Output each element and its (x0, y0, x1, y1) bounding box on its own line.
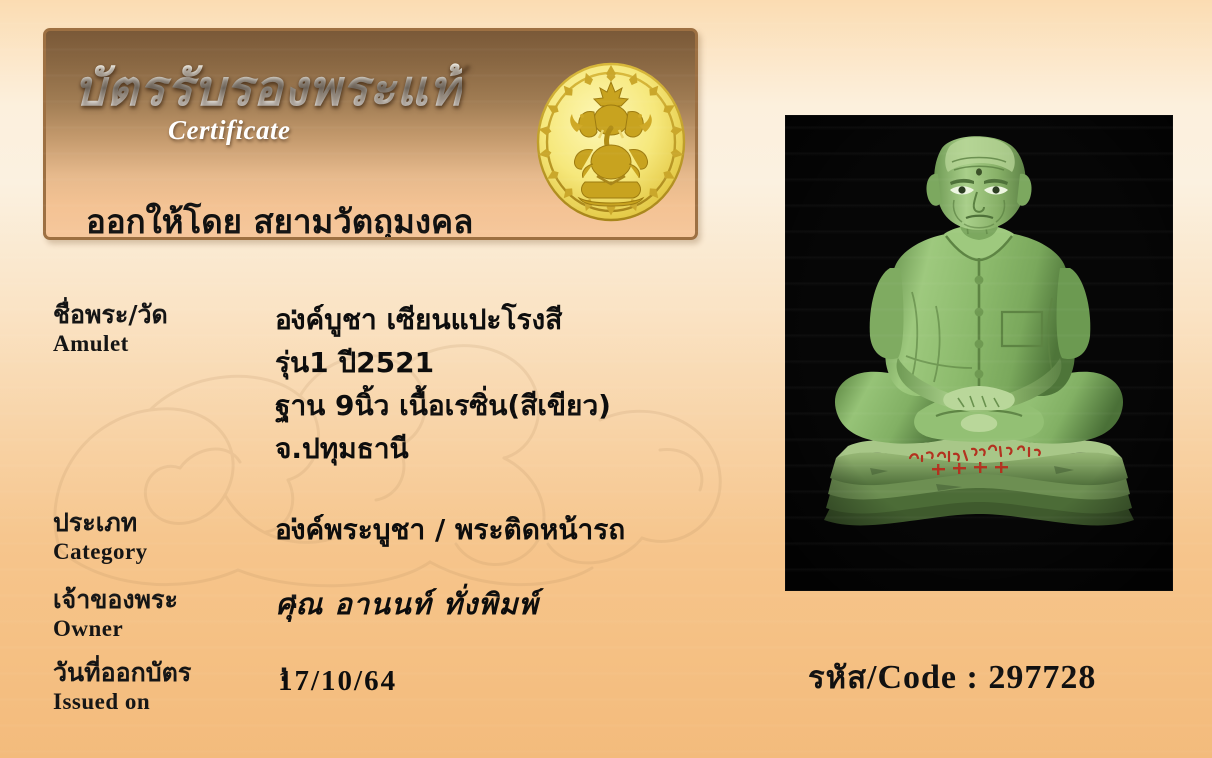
code-label-combined: /Code (867, 659, 957, 696)
field-owner: เจ้าของพระ Owner : (53, 585, 178, 643)
field-issued-on: วันที่ออกบัตร Issued on : (53, 658, 191, 716)
category-label-thai: ประเภท (53, 508, 148, 538)
category-label-english: Category (53, 538, 148, 566)
field-amulet: ชื่อพระ/วัด Amulet : (53, 300, 168, 358)
category-value: องค์พระบูชา / พระติดหน้ารถ (275, 508, 625, 551)
issuer-label: ออกให้โดย สยามวัตถุมงคล (86, 195, 473, 240)
owner-label-english: Owner (53, 615, 178, 643)
issued-label-thai: วันที่ออกบัตร (53, 658, 191, 688)
ganesha-seal-icon (527, 58, 695, 226)
amulet-value-group: องค์บูชา เซียนแปะโรงสี รุ่น1 ปี2521 ฐาน … (275, 298, 611, 470)
issued-on-value: 17/10/64 (278, 660, 397, 703)
amulet-value-line: องค์บูชา เซียนแปะโรงสี (275, 298, 611, 341)
page-title-english: Certificate (168, 115, 290, 146)
issued-label-english: Issued on (53, 688, 191, 716)
code-value: 297728 (988, 659, 1096, 696)
amulet-value-line: รุ่น1 ปี2521 (275, 341, 611, 384)
amulet-value-line: จ.ปทุมธานี (275, 427, 611, 470)
code-line: รหัส/Code : 297728 (808, 652, 1096, 702)
code-label-thai: รหัส (808, 660, 867, 696)
owner-label-thai: เจ้าของพระ (53, 585, 178, 615)
certificate-card: บัตรรับรองพระแท้ Certificate ออกให้โดย ส… (0, 0, 1212, 758)
amulet-value-line: ฐาน 9นิ้ว เนื้อเรซิ่น(สีเขียว) (275, 384, 611, 427)
amulet-label-english: Amulet (53, 330, 168, 358)
amulet-statue-photo (786, 116, 1172, 590)
code-separator: : (967, 659, 979, 696)
field-category: ประเภท Category : (53, 508, 148, 566)
header-panel: บัตรรับรองพระแท้ Certificate ออกให้โดย ส… (43, 28, 698, 240)
amulet-label-thai: ชื่อพระ/วัด (53, 300, 168, 330)
owner-value: คุณ อานนท์ ทั่งพิมพ์ (275, 583, 539, 626)
